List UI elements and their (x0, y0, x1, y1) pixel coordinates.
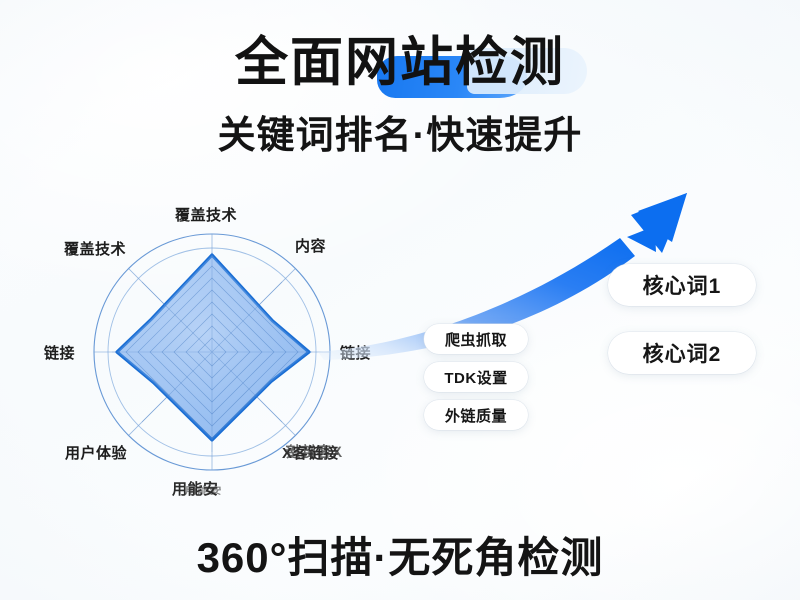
radar-label-left: 链接 (44, 342, 75, 363)
main-title-text: 全面网站检测 (235, 33, 565, 92)
feature-pill-tdk[interactable]: TDK设置 (424, 362, 528, 392)
radar-label-bottom-right: X客链接 X客链接 (282, 442, 339, 463)
radar-label-bottom-left: 用户体验 (65, 442, 127, 463)
radar-label-bottom-ghost: 用能安 (185, 484, 222, 498)
arrow-head-fill (631, 193, 687, 253)
sub-title: 关键词排名·快速提升 (0, 104, 800, 159)
keyword-pill-2[interactable]: 核心词2 (608, 332, 756, 374)
radar-label-bottom-right-ghost: X客链接 (284, 441, 342, 462)
radar-axes-overlay (112, 252, 312, 452)
feature-pill-backlink[interactable]: 外链质量 (424, 400, 528, 430)
radar-label-top: 覆盖技术 (175, 204, 237, 225)
radar-label-bottom: 用能安 用能安 (172, 478, 219, 499)
page-title: 全面网站检测 (235, 34, 565, 91)
feature-pill-crawl[interactable]: 爬虫抓取 (424, 324, 528, 354)
headline-block: 全面网站检测 关键词排名·快速提升 (0, 34, 800, 159)
radar-data-glow (117, 255, 309, 440)
radar-label-top-left: 覆盖技术 (64, 238, 126, 259)
keyword-pill-1[interactable]: 核心词1 (608, 264, 756, 306)
poster-canvas: 全面网站检测 关键词排名·快速提升 (0, 0, 800, 600)
foot-title: 360°扫描·无死角检测 (0, 524, 800, 585)
